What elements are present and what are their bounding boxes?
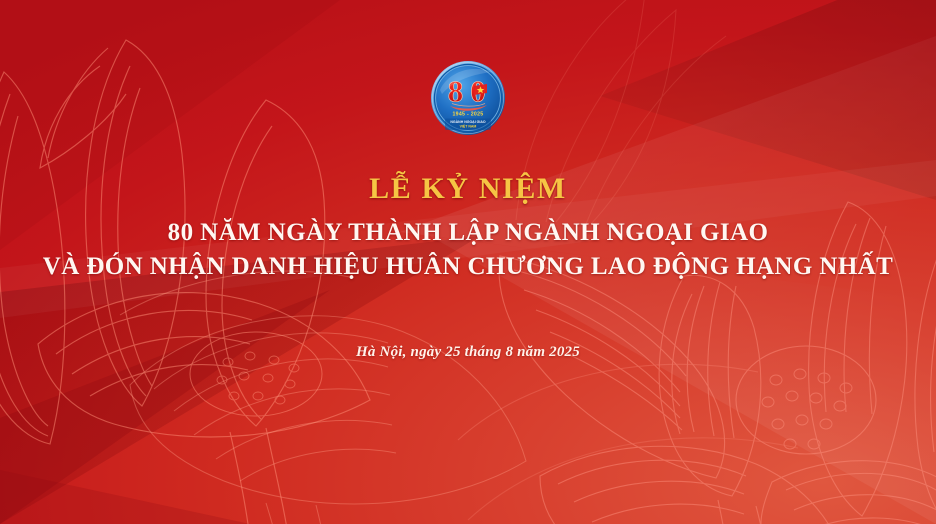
lotus-decoration-mid: [120, 255, 550, 524]
badge-caption-2: VIỆT NAM: [460, 123, 477, 128]
badge-caption-1: NGÀNH NGOẠI GIAO: [450, 119, 485, 124]
anniversary-badge-80-icon: 8 0 1945 - 2025 NGÀNH NGOẠI GIAO VIỆT NA…: [430, 60, 506, 136]
ceremony-banner: 8 0 1945 - 2025 NGÀNH NGOẠI GIAO VIỆT NA…: [0, 0, 936, 524]
title-line-3: VÀ ĐÓN NHẬN DANH HIỆU HUÂN CHƯƠNG LAO ĐỘ…: [0, 251, 936, 284]
datestamp: Hà Nội, ngày 25 tháng 8 năm 2025: [0, 344, 936, 361]
headline-block: LỄ KỶ NIỆM 80 NĂM NGÀY THÀNH LẬP NGÀNH N…: [0, 172, 936, 284]
title-line-1: LỄ KỶ NIỆM: [0, 172, 936, 207]
badge-years: 1945 - 2025: [453, 112, 484, 118]
title-line-2: 80 NĂM NGÀY THÀNH LẬP NGÀNH NGOẠI GIAO: [0, 217, 936, 250]
